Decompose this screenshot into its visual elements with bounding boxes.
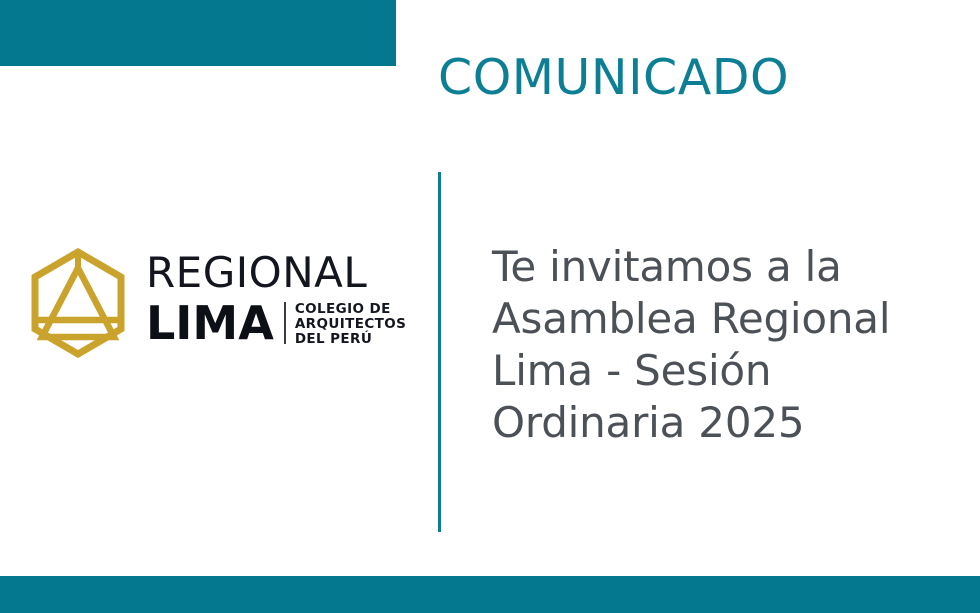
headline-block: Te invitamos a la Asamblea Regional Lima…: [492, 241, 962, 449]
logo-word-regional: REGIONAL: [146, 250, 408, 296]
organization-logo: REGIONAL LIMA COLEGIO DE ARQUITECTOS DEL…: [28, 248, 408, 360]
vertical-divider: [438, 172, 441, 532]
headline-line-4: Ordinaria 2025: [492, 397, 962, 449]
headline-line-3: Lima - Sesión: [492, 345, 962, 397]
headline-line-1: Te invitamos a la: [492, 241, 962, 293]
logo-word-lima: LIMA: [146, 298, 274, 348]
logo-vertical-rule: [284, 302, 286, 344]
bottom-teal-band: [0, 576, 980, 613]
logo-caption-line-3: DEL PERÚ: [295, 332, 406, 347]
page-title: COMUNICADO: [438, 52, 789, 103]
headline-line-2: Asamblea Regional: [492, 293, 962, 345]
logo-wordmark: REGIONAL LIMA COLEGIO DE ARQUITECTOS DEL…: [146, 250, 408, 358]
logo-caption-line-1: COLEGIO DE: [295, 302, 406, 317]
logo-lima-row: LIMA COLEGIO DE ARQUITECTOS DEL PERÚ: [146, 298, 408, 348]
comunicado-poster: COMUNICADO REGIONAL LIMA COLEGIO DE: [0, 0, 980, 613]
hexagon-architect-monogram-icon: [28, 248, 128, 358]
top-teal-band: [0, 0, 396, 66]
logo-caption-line-2: ARQUITECTOS: [295, 317, 406, 332]
logo-caption: COLEGIO DE ARQUITECTOS DEL PERÚ: [295, 298, 406, 347]
